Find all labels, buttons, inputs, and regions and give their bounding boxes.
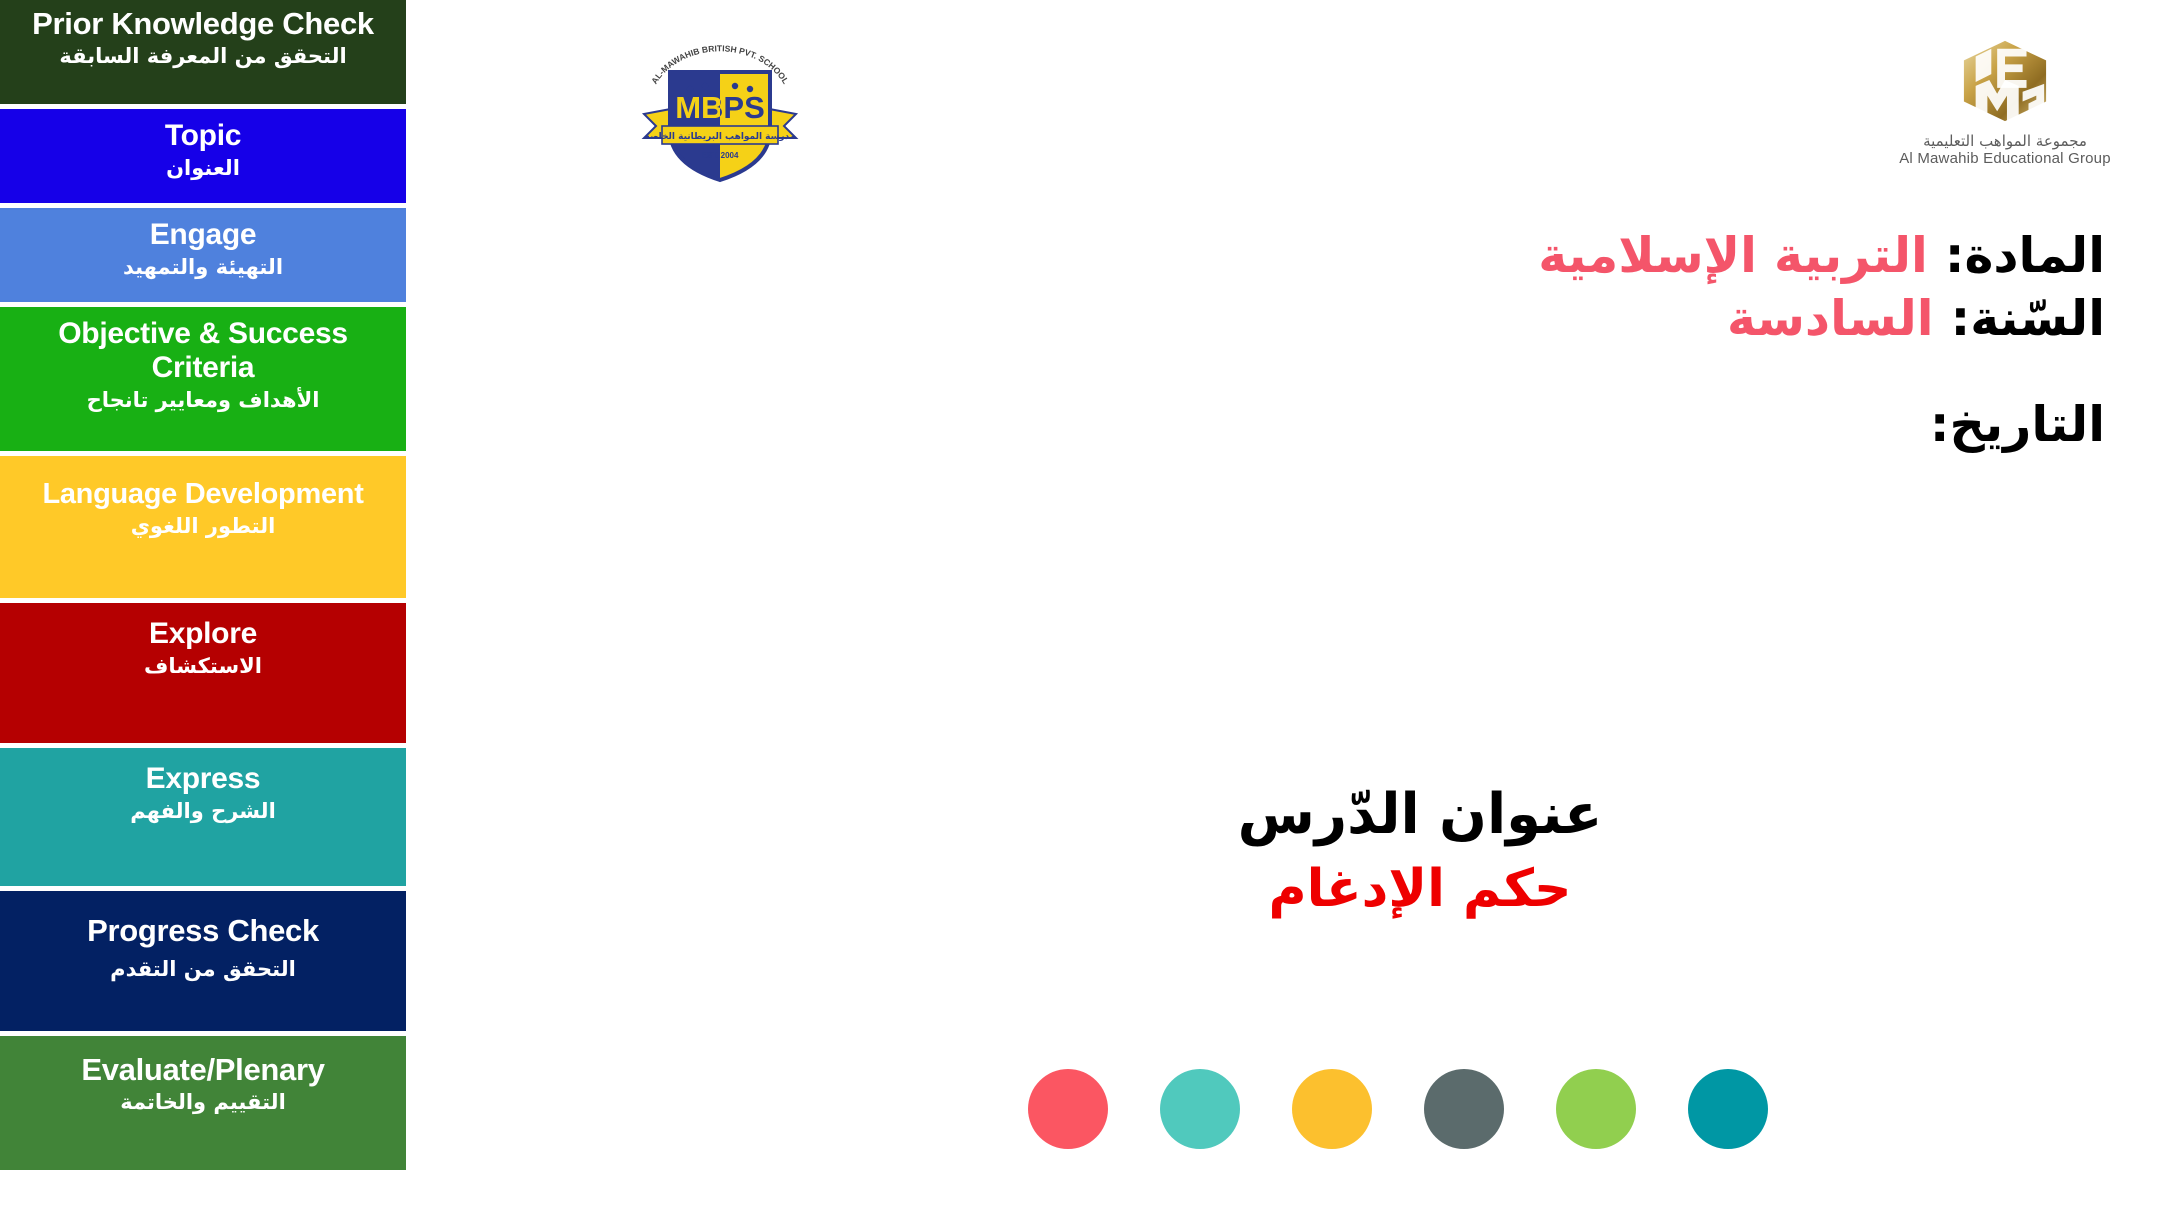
stage-label-en: Evaluate/Plenary [8, 1052, 398, 1087]
stage-label-ar: الأهداف ومعايير تانجاح [8, 387, 398, 413]
meta-subject-value: التربية الإسلامية [1538, 227, 1928, 284]
stage-label-en: Prior Knowledge Check [8, 6, 398, 41]
meta-year-colon: : [1951, 290, 1971, 347]
meta-year-label: السّنة [1970, 290, 2105, 347]
stage-label-en: Engage [8, 218, 398, 252]
stage-label-ar: التحقق من التقدم [8, 956, 398, 982]
stage-label-en: Explore [8, 617, 398, 651]
stage-label-ar: التقييم والخاتمة [8, 1089, 398, 1115]
sidebar-stage-topic[interactable]: Topic العنوان [0, 109, 406, 203]
sidebar-stage-engage[interactable]: Engage التهيئة والتمهيد [0, 208, 406, 302]
group-arabic-name: مجموعة المواهب التعليمية [1880, 132, 2130, 150]
group-english-name: Al Mawahib Educational Group [1880, 150, 2130, 167]
meta-subject-colon: : [1945, 227, 1965, 284]
sidebar-stage-progress-check[interactable]: Progress Check التحقق من التقدم [0, 891, 406, 1031]
stage-label-en: Progress Check [8, 913, 398, 948]
meta-date-label: التاريخ [1949, 396, 2105, 453]
school-arabic-name: مدرسة المواهب البريطانية الخاصة [645, 132, 796, 142]
stage-label-ar: التطور اللغوي [8, 513, 398, 539]
stage-label-en: Language Development [8, 478, 398, 511]
decorative-dot-row [1028, 1068, 1768, 1150]
meta-subject-label: المادة [1964, 227, 2105, 284]
stage-label-ar: التحقق من المعرفة السابقة [8, 43, 398, 69]
sidebar-stage-express[interactable]: Express الشرح والفهم [0, 748, 406, 886]
meta-subject-row: المادة: التربية الإسلامية [1325, 225, 2105, 288]
stage-label-ar: الشرح والفهم [8, 798, 398, 824]
stage-label-ar: العنوان [8, 155, 398, 181]
dot-lime [1556, 1069, 1636, 1149]
lesson-title-block: عنوان الدّرس حكم الإدغام [1140, 782, 1700, 920]
sidebar-stage-prior-knowledge-check[interactable]: Prior Knowledge Check التحقق من المعرفة … [0, 0, 406, 104]
stage-label-en: Topic [8, 119, 398, 153]
school-crest-logo: MBPS MBPS مدرسة المواهب البريطانية الخاص… [630, 42, 810, 187]
sidebar-stage-language-development[interactable]: Language Development التطور اللغوي [0, 456, 406, 598]
group-monogram-icon [1880, 35, 2130, 130]
meta-year-value: السادسة [1727, 290, 1934, 347]
dot-teal [1688, 1069, 1768, 1149]
lesson-title-heading: عنوان الدّرس [1140, 782, 1700, 848]
dot-yellow [1292, 1069, 1372, 1149]
sidebar-stage-evaluate-plenary[interactable]: Evaluate/Plenary التقييم والخاتمة [0, 1036, 406, 1170]
stage-label-ar: الاستكشاف [8, 653, 398, 679]
dot-slate [1424, 1069, 1504, 1149]
sidebar-stage-objective-success-criteria[interactable]: Objective & Success Criteria الأهداف ومع… [0, 307, 406, 451]
lesson-meta-block: المادة: التربية الإسلامية السّنة: السادس… [1325, 225, 2105, 457]
lesson-stage-sidebar: Prior Knowledge Check التحقق من المعرفة … [0, 0, 406, 1215]
sidebar-stage-explore[interactable]: Explore الاستكشاف [0, 603, 406, 743]
school-established: EST. 2004 [702, 151, 739, 160]
educational-group-logo: مجموعة المواهب التعليمية Al Mawahib Educ… [1880, 35, 2130, 175]
meta-date-row: التاريخ: [1325, 394, 2105, 457]
lesson-title-subject: حكم الإدغام [1140, 858, 1700, 920]
stage-label-en: Objective & Success Criteria [8, 317, 398, 385]
meta-year-row: السّنة: السادسة [1325, 288, 2105, 351]
stage-label-ar: التهيئة والتمهيد [8, 254, 398, 280]
dot-coral [1028, 1069, 1108, 1149]
meta-date-colon: : [1930, 396, 1950, 453]
dot-mint [1160, 1069, 1240, 1149]
stage-label-en: Express [8, 762, 398, 796]
school-crest-icon: MBPS MBPS مدرسة المواهب البريطانية الخاص… [630, 42, 810, 187]
